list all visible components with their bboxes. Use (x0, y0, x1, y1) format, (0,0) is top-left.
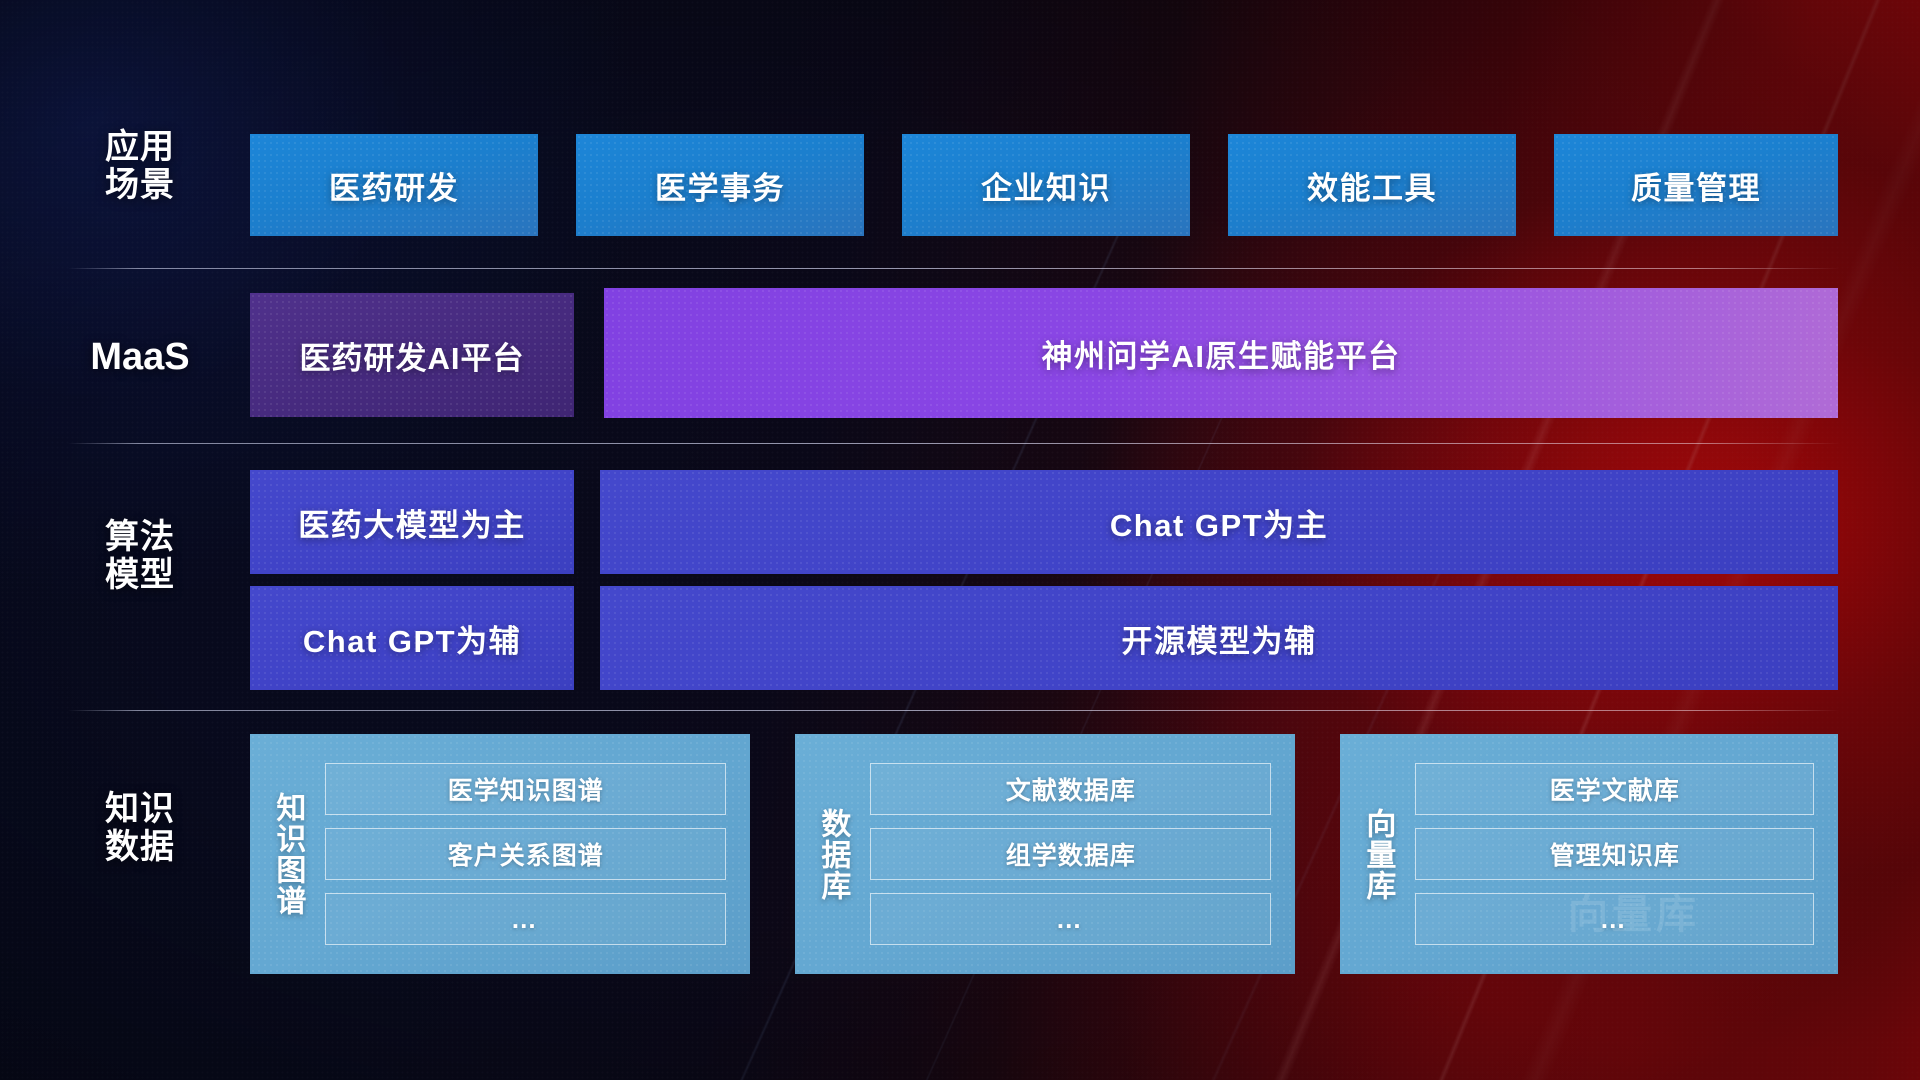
knowledge-item-list: 医学文献库 管理知识库 … (1415, 763, 1814, 945)
knowledge-item-more[interactable]: … (325, 893, 726, 945)
algorithm-box-label: Chat GPT为主 (1110, 500, 1328, 545)
row-divider-application-maas (68, 268, 1840, 269)
algorithm-box-medicine-large-model-primary[interactable]: 医药大模型为主 (250, 470, 574, 574)
knowledge-item-label: 管理知识库 (1550, 836, 1680, 872)
app-scenario-label: 效能工具 (1307, 163, 1437, 208)
maas-box-shenzhou-wenxue-platform[interactable]: 神州问学AI原生赋能平台 (604, 288, 1838, 418)
row-label-algorithm-model: 算法 模型 (60, 518, 220, 595)
row-divider-algorithm-knowledge (68, 710, 1840, 711)
maas-box-label: 医药研发AI平台 (300, 333, 525, 378)
app-scenario-box-enterprise-knowledge[interactable]: 企业知识 (902, 134, 1190, 236)
knowledge-panel-knowledge-graph[interactable]: 知识图谱 医学知识图谱 客户关系图谱 … (250, 734, 750, 974)
knowledge-item-label: … (511, 904, 541, 935)
knowledge-item-more[interactable]: … (1415, 893, 1814, 945)
knowledge-panel-title: 知识图谱 (270, 792, 305, 916)
maas-box-label: 神州问学AI原生赋能平台 (1042, 331, 1401, 376)
algorithm-box-chatgpt-secondary[interactable]: Chat GPT为辅 (250, 586, 574, 690)
algorithm-box-label: 开源模型为辅 (1122, 616, 1317, 661)
knowledge-item-list: 医学知识图谱 客户关系图谱 … (325, 763, 726, 945)
row-divider-maas-algorithm (68, 443, 1840, 444)
knowledge-item-label: 医学文献库 (1550, 771, 1680, 807)
architecture-diagram-canvas: 应用 场景 医药研发 医学事务 企业知识 效能工具 质量管理 MaaS 医药研发… (0, 0, 1920, 1080)
knowledge-panel-database[interactable]: 数据库 文献数据库 组学数据库 … (795, 734, 1295, 974)
app-scenario-label: 质量管理 (1631, 163, 1761, 208)
knowledge-panel-vector-store[interactable]: 向量库 医学文献库 管理知识库 … 向量库 (1340, 734, 1838, 974)
knowledge-item[interactable]: 医学知识图谱 (325, 763, 726, 815)
knowledge-item[interactable]: 文献数据库 (870, 763, 1271, 815)
row-label-knowledge-data: 知识 数据 (60, 790, 220, 867)
algorithm-box-label: 医药大模型为主 (298, 500, 526, 545)
knowledge-item-label: 客户关系图谱 (448, 836, 604, 872)
app-scenario-box-medicine-rd[interactable]: 医药研发 (250, 134, 538, 236)
knowledge-item[interactable]: 客户关系图谱 (325, 828, 726, 880)
row-label-maas: MaaS (60, 336, 220, 379)
knowledge-panel-title: 数据库 (815, 808, 850, 901)
app-scenario-label: 医学事务 (655, 163, 785, 208)
app-scenario-label: 医药研发 (329, 163, 459, 208)
knowledge-item-label: 文献数据库 (1006, 771, 1136, 807)
app-scenario-box-medical-affairs[interactable]: 医学事务 (576, 134, 864, 236)
algorithm-box-label: Chat GPT为辅 (303, 616, 521, 661)
row-label-application-scenarios: 应用 场景 (60, 128, 220, 205)
knowledge-panel-title: 向量库 (1360, 808, 1395, 901)
app-scenario-box-quality-management[interactable]: 质量管理 (1554, 134, 1838, 236)
algorithm-box-opensource-model-secondary[interactable]: 开源模型为辅 (600, 586, 1838, 690)
knowledge-item-label: 医学知识图谱 (448, 771, 604, 807)
knowledge-item-label: … (1600, 904, 1630, 935)
app-scenario-box-efficiency-tools[interactable]: 效能工具 (1228, 134, 1516, 236)
algorithm-box-chatgpt-primary[interactable]: Chat GPT为主 (600, 470, 1838, 574)
app-scenario-label: 企业知识 (981, 163, 1111, 208)
knowledge-item-label: 组学数据库 (1006, 836, 1136, 872)
knowledge-item-label: … (1056, 904, 1086, 935)
maas-box-medicine-rd-ai-platform[interactable]: 医药研发AI平台 (250, 293, 574, 417)
knowledge-item[interactable]: 医学文献库 (1415, 763, 1814, 815)
knowledge-item-more[interactable]: … (870, 893, 1271, 945)
knowledge-item[interactable]: 管理知识库 (1415, 828, 1814, 880)
knowledge-item[interactable]: 组学数据库 (870, 828, 1271, 880)
knowledge-item-list: 文献数据库 组学数据库 … (870, 763, 1271, 945)
